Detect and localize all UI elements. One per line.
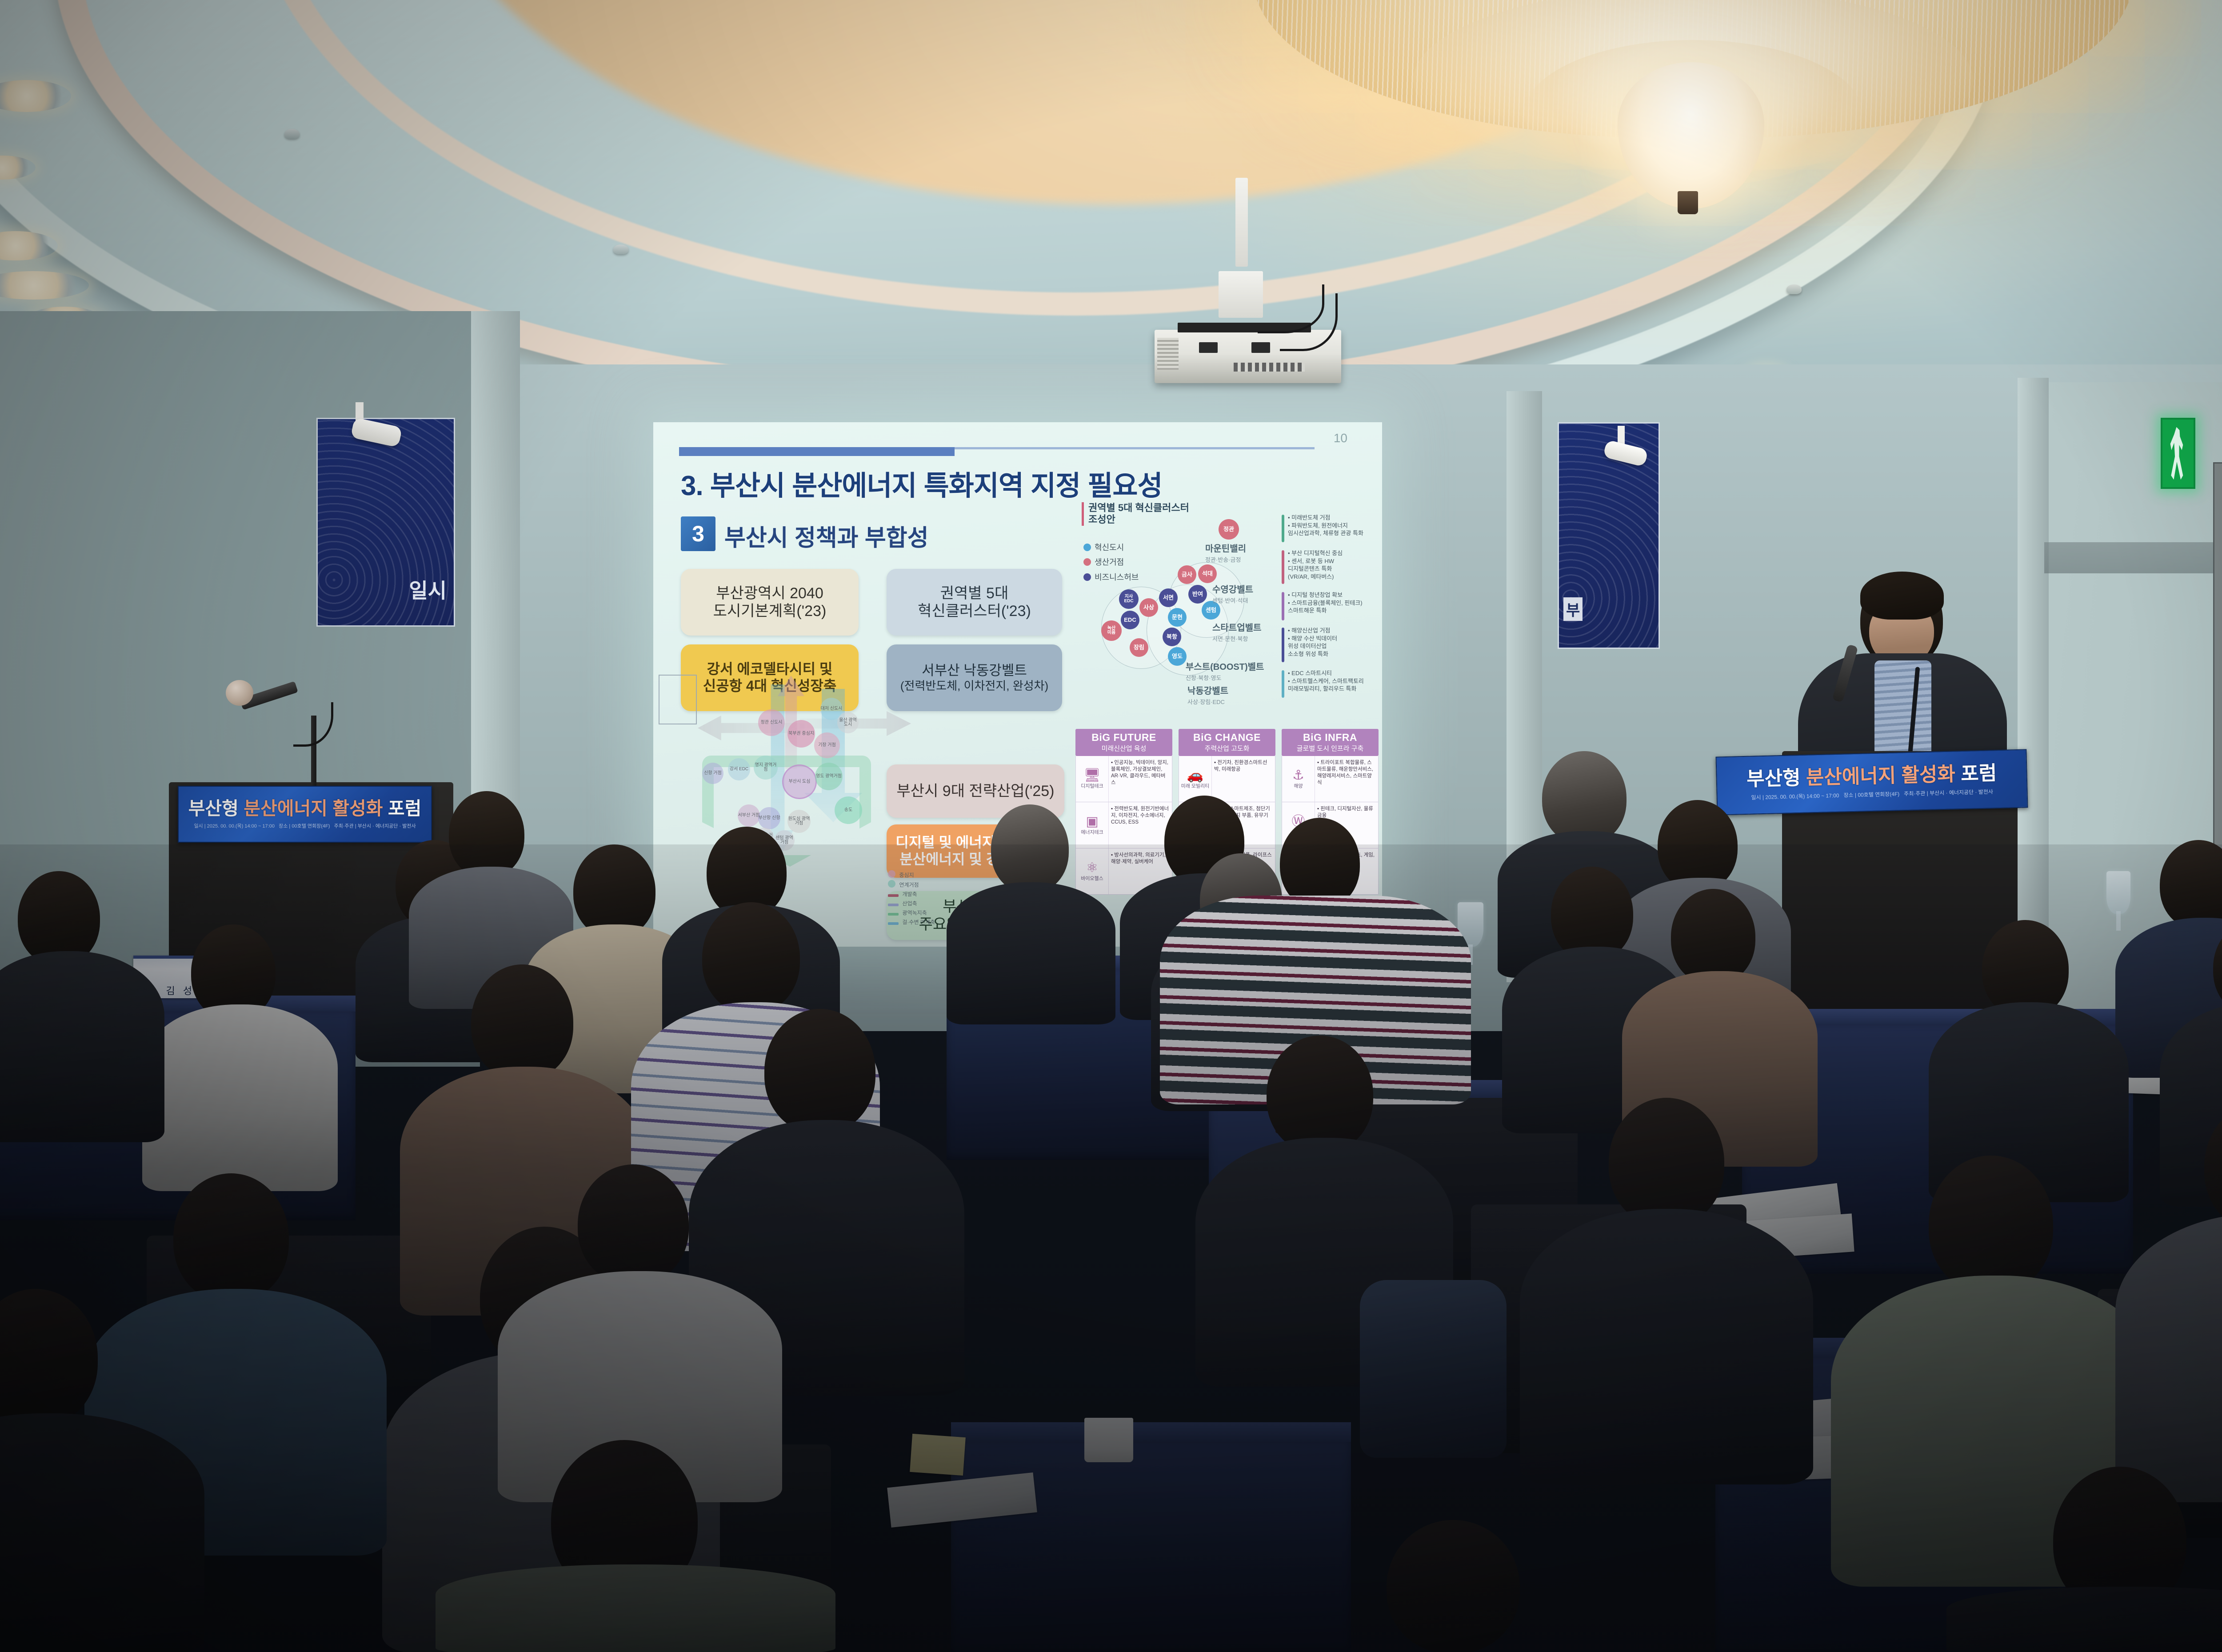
column-header: BiG INFRA 글로벌 도시 인프라 구축: [1282, 729, 1379, 756]
attendee-head-foreground: [1387, 1520, 1520, 1652]
column-header: BiG FUTURE 미래신산업 육성: [1075, 729, 1172, 756]
running-man-exit-icon: [2161, 418, 2195, 489]
attendee-head: [449, 791, 524, 878]
belt-label: 수영강벨트 센텀·반여·석대: [1212, 585, 1253, 605]
belt-label: 마운틴밸리 정관·반송·금정: [1205, 544, 1246, 564]
paper-cup: [1084, 1418, 1133, 1462]
spotlight-arm: [1618, 426, 1625, 444]
wall-banner-left: 일시: [316, 418, 455, 627]
column-header: BiG CHANGE 주력산업 고도화: [1179, 729, 1275, 756]
attendee-head: [1671, 889, 1755, 984]
legend-dot-icon: [1083, 573, 1091, 581]
map-node: 정관 신도시: [758, 709, 785, 736]
projector-mount-bracket: [1219, 271, 1263, 318]
conference-table: [951, 1442, 1351, 1652]
attendee-head: [702, 902, 800, 1013]
cluster-diagram-panel: 권역별 5대 혁신클러스터 조성안 혁신도시 생산거점 비즈니스허브 정관 금사…: [1072, 498, 1379, 720]
slide-page-number: 10: [1334, 431, 1347, 445]
map-inset-frame: [659, 675, 697, 724]
cluster-node: 금사: [1178, 565, 1196, 584]
glass-stem: [2116, 911, 2121, 931]
attendee-head: [573, 844, 655, 938]
table-row: 🚗미래 모빌리티 ▪ 전기차, 친환경스마트선박, 미래항공: [1179, 756, 1275, 802]
map-legend-item: 광역녹지축: [888, 908, 935, 918]
map-legend-item: 연계거점: [888, 880, 935, 890]
row-text: ▪ 전력반도체, 원전기반에너지, 이차전지, 수소에너지, CCUS, ESS: [1109, 802, 1172, 848]
legend-circle-icon: [888, 870, 895, 878]
attendee-body: [947, 882, 1115, 1024]
monitor-icon: 🖥디지털테크: [1076, 756, 1109, 802]
wine-glass: [2106, 871, 2130, 914]
conference-photo: 일시 부 10 3. 부산시 분산에너지 특화지역 지정 필요성 3 부산시 정…: [0, 0, 2222, 1652]
attendee-head: [471, 964, 573, 1080]
map-node: 영도 광역거점: [815, 763, 843, 790]
projector-grille: [1157, 338, 1179, 370]
attendee-head: [764, 1009, 875, 1133]
cluster-node: 문현: [1168, 608, 1187, 627]
cluster-legend-item: 생산거점: [1083, 555, 1139, 570]
sprinkler-head: [284, 129, 300, 139]
sprinkler-head: [613, 244, 628, 254]
sticky-note: [910, 1434, 966, 1476]
map-node-core: 부산시 도심: [782, 764, 817, 799]
bullet-color-bar: [1282, 670, 1284, 698]
attendee-body: [0, 1413, 204, 1652]
cluster-legend-item: 비즈니스허브: [1083, 570, 1139, 585]
row-text: ▪ 인공지능, 빅데이터, 망지, 블록체인, 가상결보체인, AR·VR, 클…: [1109, 756, 1172, 802]
belt-label: 낙동강벨트 사상·장림·EDC: [1187, 686, 1228, 707]
legend-circle-icon: [888, 880, 895, 888]
attendee-body: [142, 1004, 338, 1191]
projector-ports: [1234, 363, 1305, 372]
map-node: 울산 광역도시: [837, 712, 859, 733]
map-node: 서부산 거점: [738, 804, 760, 827]
bullet-group: • 부산 디지털혁신 중심 • 센서, 로봇 등 HW 디지털콘텐츠 특화 (V…: [1288, 549, 1381, 580]
row-text: ▪ 전기차, 친환경스마트선박, 미래항공: [1212, 756, 1275, 802]
bullet-color-bar: [1282, 628, 1284, 662]
attendee-body: [436, 1564, 835, 1652]
legend-dot-icon: [1083, 544, 1091, 551]
podium-sign-subline: 일시 | 2025. 00. 00.(목) 14:00 ~ 17:00 장소 |…: [1751, 788, 1993, 801]
chandelier-drop-globe: [1618, 62, 1764, 209]
attendee-head: [1267, 1036, 1373, 1153]
legend-bar-icon: [888, 904, 899, 906]
map-legend-item: 개발축: [888, 890, 935, 899]
chandelier-finial: [1678, 191, 1698, 214]
attendee-body: [1946, 1587, 2222, 1652]
table-row: 🖥디지털테크 ▪ 인공지능, 빅데이터, 망지, 블록체인, 가상결보체인, A…: [1075, 756, 1172, 802]
chip-icon: ▣에너지테크: [1076, 802, 1109, 848]
wall-banner-date-label: 일시: [409, 575, 447, 604]
legend-arrow-icon: [888, 894, 899, 897]
wall-trim: [2044, 542, 2222, 573]
attendee-head: [173, 1173, 289, 1302]
cluster-node: 사상: [1139, 598, 1158, 617]
map-node: 신항 거점: [702, 763, 723, 784]
right-podium-sign[interactable]: 부산형 분산에너지 활성화 포럼 일시 | 2025. 00. 00.(목) 1…: [1715, 749, 2028, 815]
map-legend-item: 중심지: [888, 870, 935, 880]
podium-sign-subline: 일시 | 2025. 00. 00.(목) 14:00 ~ 17:00 장소 |…: [194, 822, 416, 829]
map-legend-item: 걸·수변 연계축: [888, 918, 935, 927]
bullet-group: • 해양신산업 거점 • 해양 수산 빅데이터 위성 데이터산업 소소형 위성 …: [1288, 627, 1381, 658]
bullet-color-bar: [1282, 592, 1284, 620]
cluster-node: 반여: [1188, 585, 1207, 604]
projector-vent: [1199, 342, 1218, 353]
bullet-group: • 미래반도체 거점 • 파워반도체, 원전에너지 임시산업과학, 체류형 관광…: [1288, 514, 1381, 537]
attendee-head: [1609, 1098, 1724, 1227]
cluster-node: 녹산 미음: [1101, 620, 1122, 641]
sprinkler-head: [1786, 284, 1802, 294]
map-node: 강서 EDC: [728, 758, 750, 780]
map-node: 명지 광역거점: [754, 756, 778, 780]
projector-vent: [1251, 342, 1270, 353]
cluster-node: 영도: [1168, 647, 1187, 666]
map-node: 송도: [835, 796, 862, 824]
bullet-color-bar: [1282, 515, 1284, 542]
belt-label: 부스트(BOOST)벨트 신항·북항·영도: [1186, 662, 1264, 683]
slide-rule-thick: [679, 447, 955, 456]
belt-label: 스타트업벨트 서면·문현·북항: [1212, 623, 1261, 644]
bullet-group: • EDC 스마트시티 • 스마트헬스케어, 스마트팩토리 미래모빌리티, 할리…: [1288, 669, 1381, 693]
attendee-body: [0, 951, 164, 1142]
map-node: 원도심 광역거점: [787, 810, 811, 833]
attendee-head: [1929, 1156, 2053, 1293]
attendee-body: [1520, 1209, 1813, 1484]
table-row: ⚓해양 ▪ 트라이포트 복합물류, 스마트물류, 해운항만서비스, 해양레저서비…: [1282, 756, 1379, 802]
wall-banner-partial-label: 부: [1563, 597, 1583, 621]
left-podium-sign[interactable]: 부산형 분산에너지 활성화 포럼 일시 | 2025. 00. 00.(목) 1…: [178, 786, 432, 843]
attendee-head: [991, 804, 1069, 893]
cluster-node: 정관: [1219, 519, 1239, 540]
legend-bar-icon: [888, 922, 899, 925]
big-future-column: BiG FUTURE 미래신산업 육성 🖥디지털테크 ▪ 인공지능, 빅데이터,…: [1075, 729, 1172, 895]
cluster-node: 북항: [1163, 628, 1181, 646]
policy-box-2040-plan: 부산광역시 2040 도시기본계획('23): [681, 569, 859, 636]
cluster-panel-title: 권역별 5대 혁신클러스터 조성안: [1082, 502, 1189, 526]
microphone-windscreen-icon: [226, 680, 253, 706]
exit-pictogram: [2168, 427, 2187, 480]
attendee-head: [0, 1289, 98, 1427]
wall-column: [2018, 378, 2049, 1000]
map-legend-item: 산업축: [888, 899, 935, 908]
slide-section-badge: 3: [681, 516, 715, 551]
crystal-chandelier: [1253, 0, 2133, 204]
backpack: [1360, 1280, 1507, 1458]
table-row: ▣에너지테크 ▪ 전력반도체, 원전기반에너지, 이차전지, 수소에너지, CC…: [1075, 802, 1172, 848]
cluster-legend: 혁신도시 생산거점 비즈니스허브: [1083, 540, 1139, 585]
cluster-legend-item: 혁신도시: [1083, 540, 1139, 555]
map-node: 북부권 중심지: [787, 720, 815, 748]
bullet-group: • 디지털 청년창업 확보 • 스마트금융(블록체인, 핀테크) 스마트해운 특…: [1288, 591, 1381, 615]
map-legend: 중심지 연계거점 개발축 산업축 광역녹지축 걸·수변 연계축: [888, 870, 935, 927]
cluster-node: 장림: [1130, 638, 1148, 657]
anchor-icon: ⚓해양: [1282, 756, 1315, 802]
legend-dot-icon: [1083, 558, 1091, 566]
slide-title: 3. 부산시 분산에너지 특화지역 지정 필요성: [681, 463, 1163, 503]
car-icon: 🚗미래 모빌리티: [1179, 756, 1212, 802]
map-node: 부산항 신항: [758, 807, 780, 829]
cluster-node: 석대: [1198, 564, 1217, 583]
speaker-hair: [1860, 572, 1944, 620]
podium-sign-text: 부산형 분산에너지 활성화 포럼: [188, 800, 422, 818]
row-text: ▪ 트라이포트 복합물류, 스마트물류, 해운항만서비스, 해양레저서비스, 스…: [1315, 756, 1378, 802]
map-node: 기장 거점: [814, 732, 840, 758]
projector-pole: [1235, 178, 1248, 267]
cluster-node: 지사 EDC: [1119, 589, 1139, 609]
attendee-head: [1542, 751, 1627, 844]
cluster-node: 서면: [1159, 588, 1178, 607]
legend-bar-icon: [888, 913, 899, 916]
podium-sign-text: 부산형 분산에너지 활성화 포럼: [1746, 764, 1997, 789]
slide-section-title: 부산시 정책과 부합성: [724, 519, 928, 552]
molecule-icon: ⚛바이오헬스: [1076, 848, 1109, 894]
policy-box-5-cluster: 권역별 5대 혁신클러스터('23): [887, 569, 1062, 636]
bullet-color-bar: [1282, 550, 1284, 584]
attendee-head: [578, 1164, 689, 1284]
cluster-node: EDC: [1121, 611, 1139, 629]
